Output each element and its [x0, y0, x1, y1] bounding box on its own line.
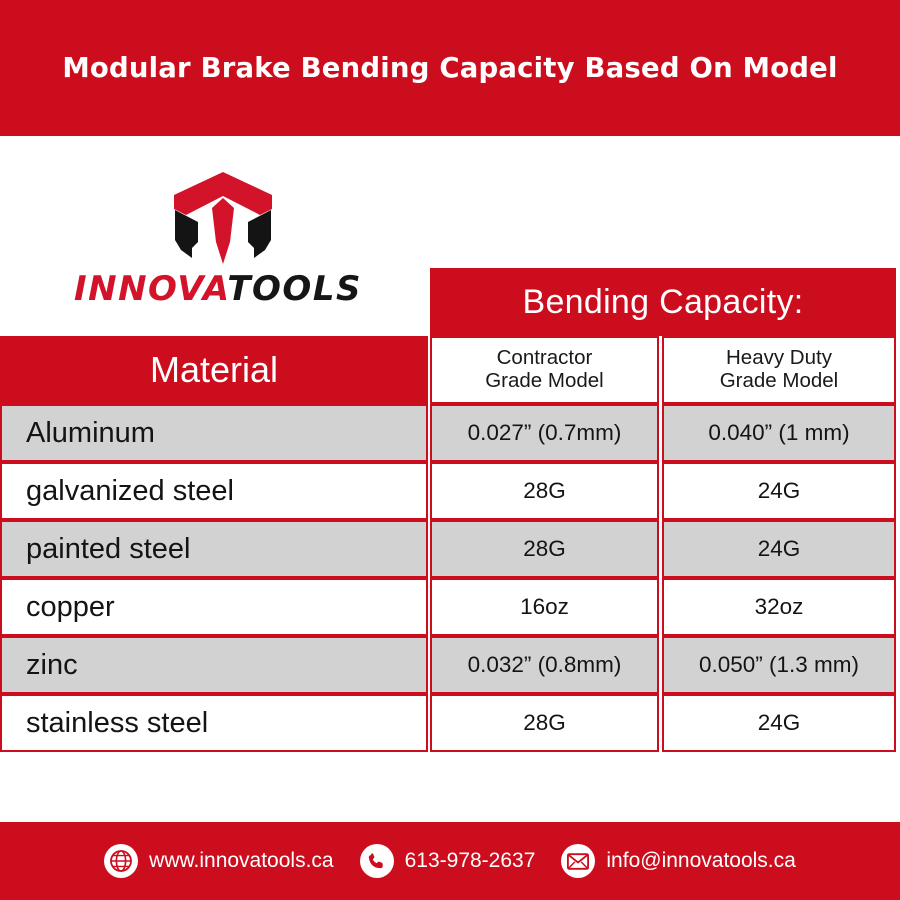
cell-contractor: 0.032” (0.8mm) [430, 636, 659, 694]
table-row: stainless steel 28G 24G [0, 694, 896, 752]
table-row: Aluminum 0.027” (0.7mm) 0.040” (1 mm) [0, 404, 896, 462]
footer-phone-text: 613-978-2637 [405, 849, 536, 873]
cell-contractor: 28G [430, 462, 659, 520]
table-row: painted steel 28G 24G [0, 520, 896, 578]
heavy-duty-line2: Grade Model [720, 369, 839, 392]
cell-contractor: 16oz [430, 578, 659, 636]
material-header-banner: Material [0, 336, 428, 404]
footer-email[interactable]: info@innovatools.ca [548, 844, 808, 878]
cell-material: painted steel [0, 520, 428, 578]
cell-heavy-duty: 24G [662, 694, 896, 752]
cell-contractor: 0.027” (0.7mm) [430, 404, 659, 462]
logo-word-innova: INNOVA [74, 269, 227, 309]
bending-capacity-banner: Bending Capacity: [430, 268, 896, 336]
cell-contractor: 28G [430, 694, 659, 752]
cell-material: zinc [0, 636, 428, 694]
column-header-contractor-label: Contractor Grade Model [485, 347, 604, 393]
logo-word-tools: TOOLS [227, 269, 362, 309]
cell-material: galvanized steel [0, 462, 428, 520]
cell-material: Aluminum [0, 404, 428, 462]
footer-phone[interactable]: 613-978-2637 [347, 844, 549, 878]
contractor-line2: Grade Model [485, 369, 604, 392]
column-header-heavy-duty-label: Heavy Duty Grade Model [720, 347, 839, 393]
infographic-page: Modular Brake Bending Capacity Based On … [0, 0, 900, 900]
page-title: Modular Brake Bending Capacity Based On … [62, 52, 837, 84]
contact-footer: www.innovatools.ca 613-978-2637 info@inn… [0, 822, 900, 900]
cell-material: stainless steel [0, 694, 428, 752]
column-header-contractor: Contractor Grade Model [430, 336, 659, 404]
phone-icon [360, 844, 394, 878]
footer-email-text: info@innovatools.ca [606, 849, 795, 873]
material-header-label: Material [150, 349, 278, 391]
cell-heavy-duty: 0.040” (1 mm) [662, 404, 896, 462]
logo-wordmark: INNOVATOOLS [18, 272, 418, 306]
bending-capacity-label: Bending Capacity: [522, 283, 803, 322]
cell-heavy-duty: 24G [662, 462, 896, 520]
footer-website[interactable]: www.innovatools.ca [91, 844, 346, 878]
contractor-line1: Contractor [497, 346, 593, 369]
column-header-heavy-duty: Heavy Duty Grade Model [662, 336, 896, 404]
table-row: zinc 0.032” (0.8mm) 0.050” (1.3 mm) [0, 636, 896, 694]
envelope-icon [561, 844, 595, 878]
footer-website-text: www.innovatools.ca [149, 849, 333, 873]
cell-contractor: 28G [430, 520, 659, 578]
capacity-table-body: Aluminum 0.027” (0.7mm) 0.040” (1 mm) ga… [0, 404, 896, 752]
cell-material: copper [0, 578, 428, 636]
cell-heavy-duty: 0.050” (1.3 mm) [662, 636, 896, 694]
table-row: copper 16oz 32oz [0, 578, 896, 636]
globe-icon [104, 844, 138, 878]
brand-logo: INNOVATOOLS [18, 168, 418, 318]
table-row: galvanized steel 28G 24G [0, 462, 896, 520]
cell-heavy-duty: 32oz [662, 578, 896, 636]
heavy-duty-line1: Heavy Duty [726, 346, 832, 369]
cell-heavy-duty: 24G [662, 520, 896, 578]
spartan-helmet-logo [168, 168, 278, 268]
title-banner: Modular Brake Bending Capacity Based On … [0, 0, 900, 136]
